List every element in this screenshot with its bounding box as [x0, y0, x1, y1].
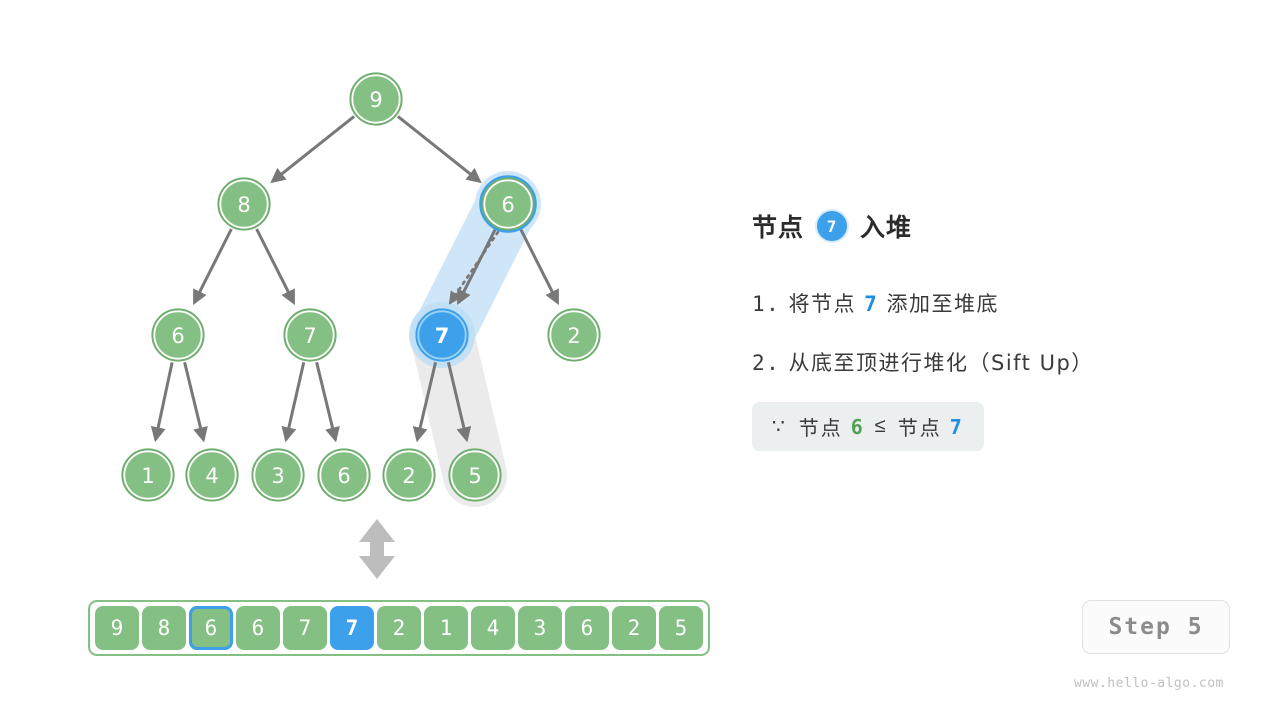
tree-edge [398, 116, 480, 181]
node-label: 5 [468, 464, 481, 488]
tree-edge [272, 116, 354, 181]
node-layer: 9866772143625 [122, 73, 599, 500]
tree-node-2[interactable]: 2 [383, 449, 434, 500]
node-label: 6 [501, 193, 514, 217]
node-label: 7 [303, 324, 316, 348]
tree-node-2[interactable]: 2 [548, 309, 599, 360]
step-1-pre: 将节点 [788, 292, 856, 316]
condition-badge: ∵ 节点 6 ≤ 节点 7 [752, 402, 984, 451]
tree-node-7[interactable]: 7 [416, 309, 467, 360]
array-cell[interactable]: 1 [424, 606, 468, 650]
node-label: 2 [402, 464, 415, 488]
array-cell[interactable]: 5 [659, 606, 703, 650]
condition-symbol: ∵ [772, 414, 787, 439]
step-item-2: 2. 从底至顶进行堆化（Sift Up） [752, 347, 1232, 377]
panel-title-badge: 7 [815, 209, 849, 243]
node-label: 8 [237, 193, 250, 217]
node-label: 4 [205, 464, 218, 488]
double-arrow-vertical-icon [356, 518, 398, 580]
tree-node-9[interactable]: 9 [350, 73, 401, 124]
tree-edge [194, 229, 231, 303]
step-chip: Step 5 [1082, 600, 1230, 654]
steps-list: 1. 将节点 7 添加至堆底 2. 从底至顶进行堆化（Sift Up） [752, 288, 1232, 377]
step-1-value: 7 [864, 292, 878, 316]
tree-edge [286, 362, 304, 440]
array-cell[interactable]: 6 [236, 606, 280, 650]
tree-node-4[interactable]: 4 [186, 449, 237, 500]
panel-title-suffix: 入堆 [860, 208, 912, 244]
panel-title: 节点 7 入堆 [752, 206, 1232, 246]
tree-node-8[interactable]: 8 [218, 178, 269, 229]
node-label: 7 [435, 324, 450, 348]
step-1-number: 1. [752, 292, 780, 316]
tree-node-5[interactable]: 5 [449, 449, 500, 500]
watermark: www.hello-algo.com [1074, 676, 1224, 691]
info-panel: 节点 7 入堆 1. 将节点 7 添加至堆底 2. 从底至顶进行堆化（Sift … [752, 206, 1232, 451]
step-1-post: 添加至堆底 [887, 292, 1000, 316]
tree-edge [185, 362, 204, 440]
tree-edge [156, 362, 173, 439]
step-2-pre: 从底至顶进行堆化（Sift Up） [788, 351, 1093, 375]
tree-node-1[interactable]: 1 [122, 449, 173, 500]
tree-node-7[interactable]: 7 [284, 309, 335, 360]
array-cell[interactable]: 2 [612, 606, 656, 650]
heap-array: 9866772143625 [88, 600, 710, 656]
tree-node-6[interactable]: 6 [318, 449, 369, 500]
node-label: 3 [271, 464, 284, 488]
array-cell[interactable]: 2 [377, 606, 421, 650]
condition-left-value: 6 [851, 415, 865, 439]
node-label: 2 [567, 324, 580, 348]
panel-title-prefix: 节点 [752, 208, 804, 244]
tree-edge [521, 229, 558, 303]
array-cell[interactable]: 6 [189, 606, 233, 650]
array-cell[interactable]: 9 [95, 606, 139, 650]
tree-node-6[interactable]: 6 [481, 177, 535, 231]
tree-edge [257, 229, 294, 303]
node-label: 9 [369, 88, 382, 112]
condition-right-value: 7 [950, 415, 964, 439]
array-cell[interactable]: 3 [518, 606, 562, 650]
node-label: 6 [171, 324, 184, 348]
step-2-number: 2. [752, 351, 780, 375]
step-item-1: 1. 将节点 7 添加至堆底 [752, 288, 1232, 318]
array-cell[interactable]: 6 [565, 606, 609, 650]
tree-node-6[interactable]: 6 [152, 309, 203, 360]
array-cell[interactable]: 7 [283, 606, 327, 650]
array-cell[interactable]: 4 [471, 606, 515, 650]
tree-node-3[interactable]: 3 [252, 449, 303, 500]
array-cell[interactable]: 8 [142, 606, 186, 650]
condition-operator: ≤ [875, 415, 888, 438]
condition-left-label: 节点 [799, 412, 843, 441]
node-label: 6 [337, 464, 350, 488]
array-cell[interactable]: 7 [330, 606, 374, 650]
tree-edge [317, 362, 336, 440]
node-label: 1 [141, 464, 154, 488]
condition-right-label: 节点 [898, 412, 942, 441]
diagram-canvas: 9866772143625 9866772143625 节点 7 入堆 1. 将… [0, 0, 1280, 720]
